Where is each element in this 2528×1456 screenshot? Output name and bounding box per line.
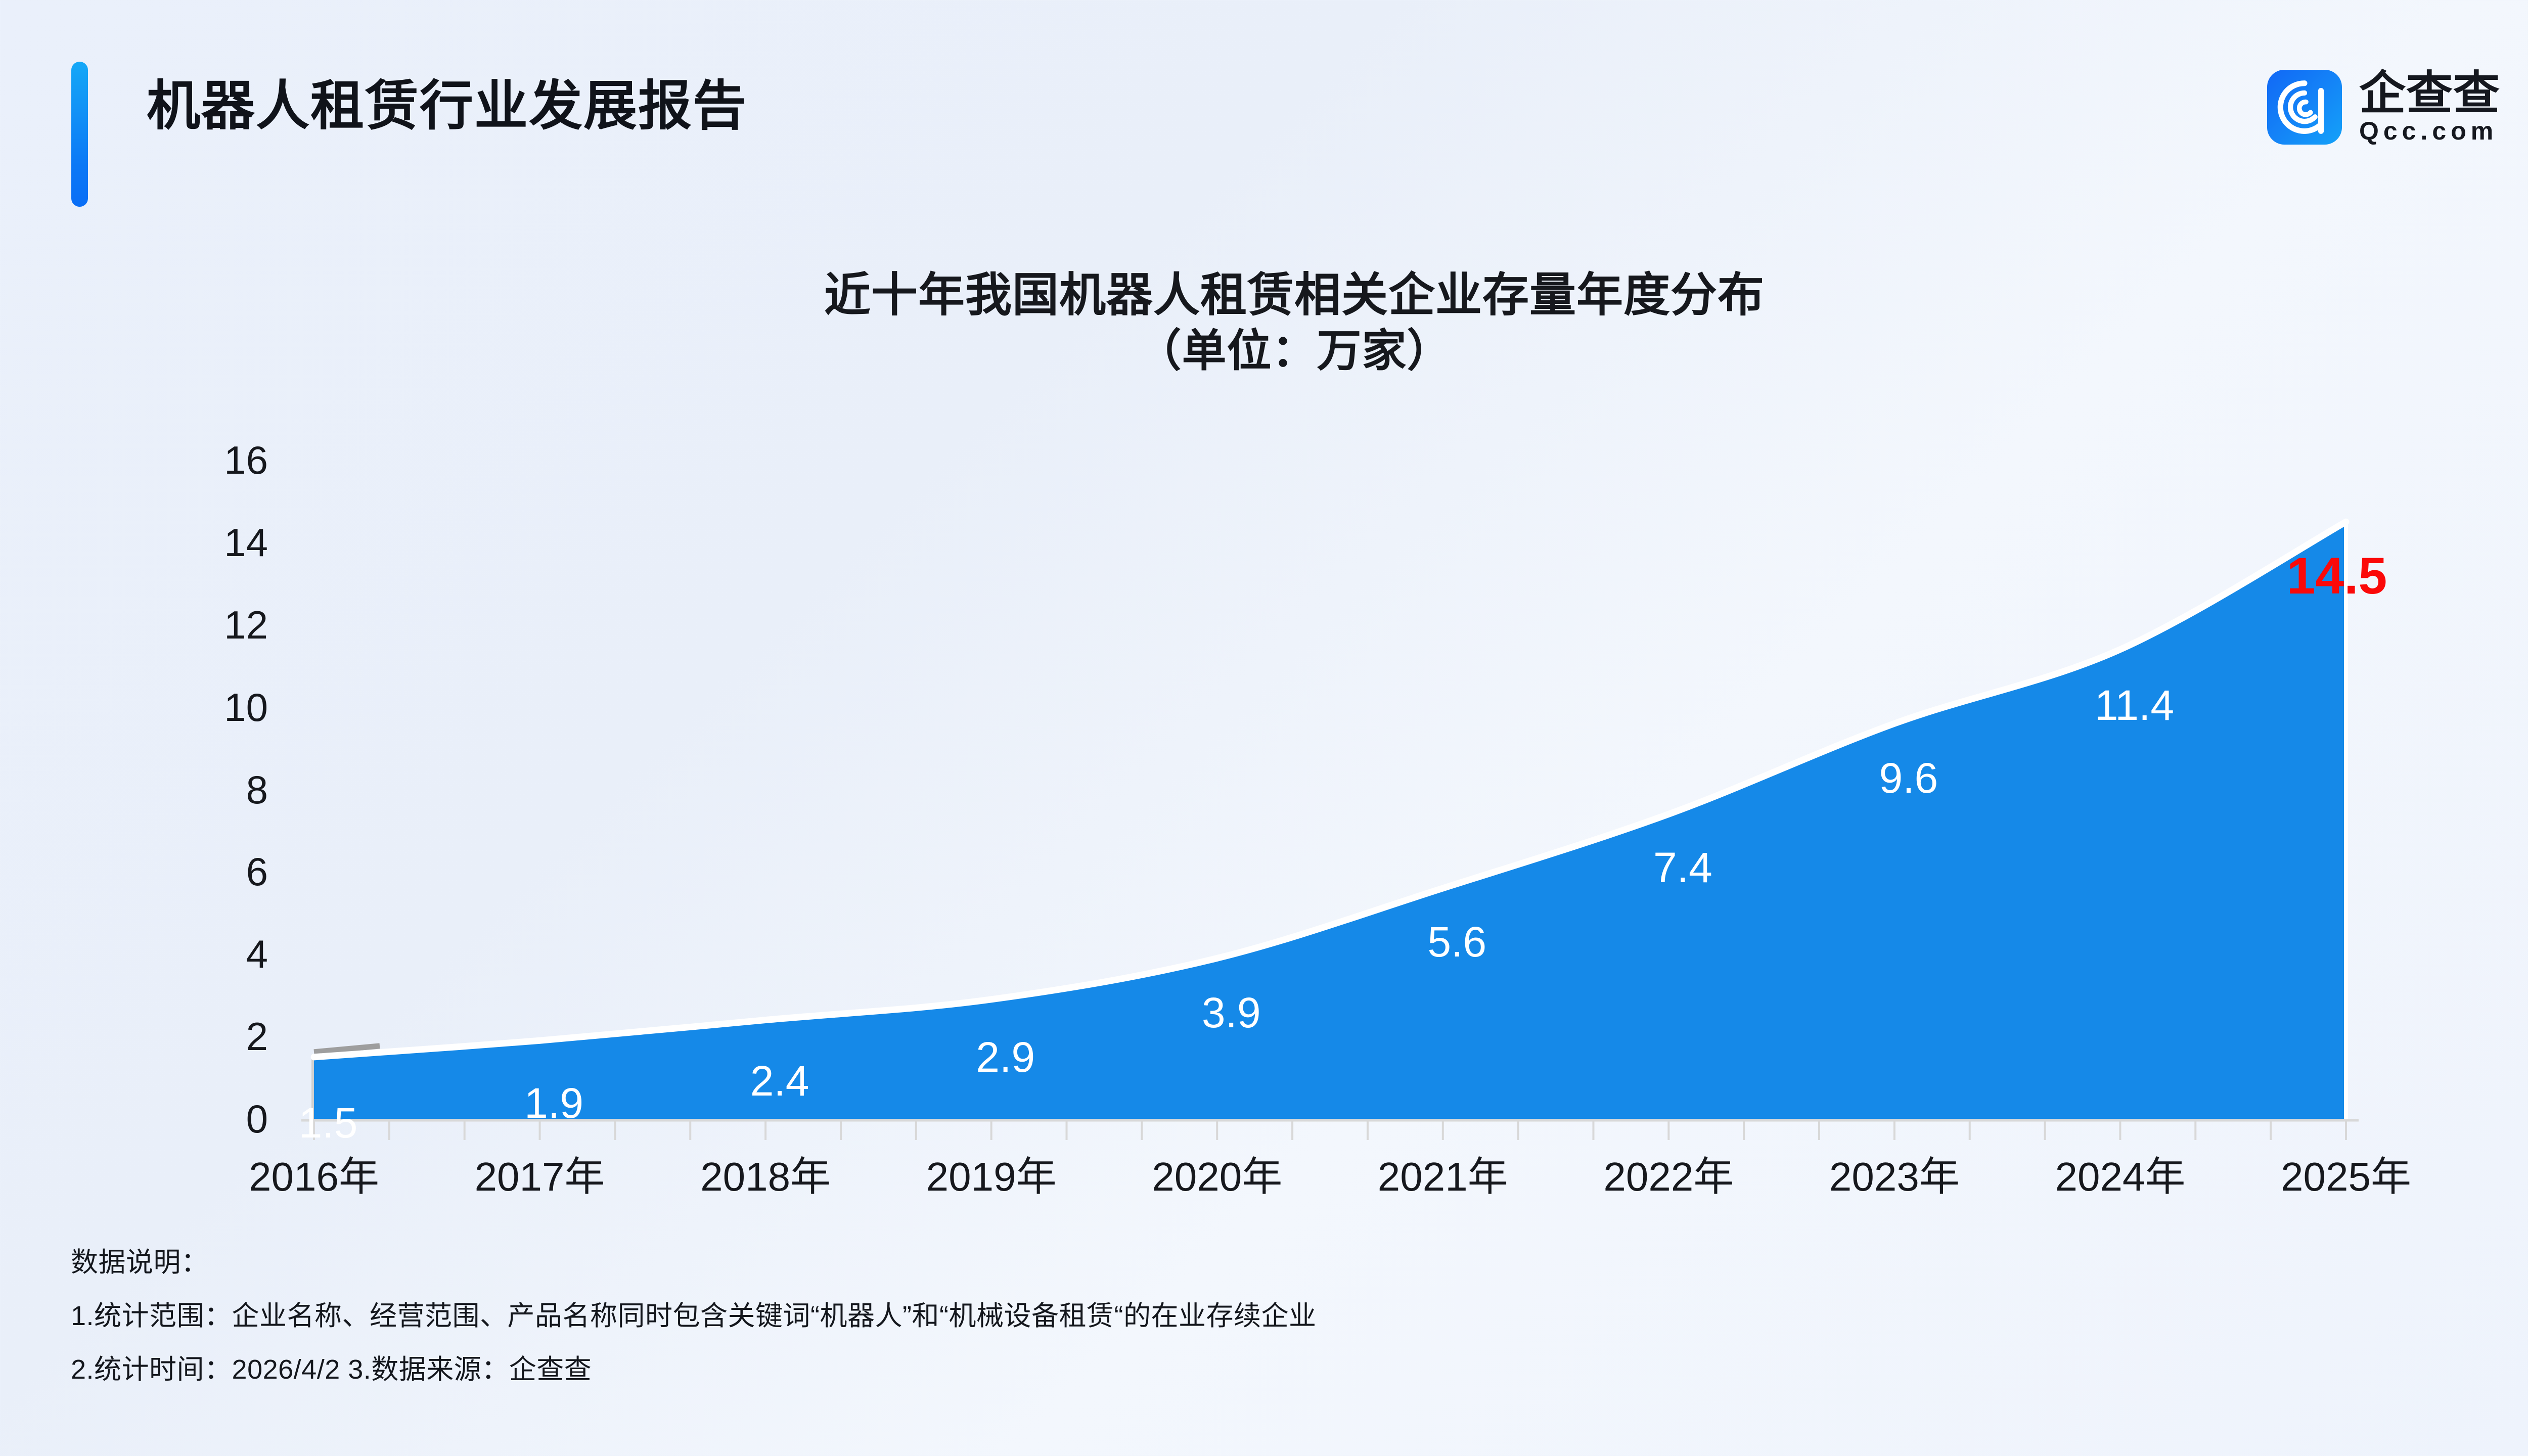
qcc-spiral-q-icon — [2267, 70, 2342, 145]
y-axis-tick-label: 16 — [167, 440, 268, 480]
title-accent-bar — [71, 62, 88, 207]
x-axis-tick-label: 2019年 — [865, 1157, 1118, 1197]
chart-title: 近十年我国机器人租赁相关企业存量年度分布 — [0, 267, 2528, 324]
x-axis-tick-label: 2020年 — [1091, 1157, 1343, 1197]
page-header: 机器人租赁行业发展报告 企查查 Qcc.com — [0, 0, 2528, 238]
x-axis-tick-label: 2018年 — [639, 1157, 892, 1197]
x-axis-tick-label: 2022年 — [1542, 1157, 1795, 1197]
logo-brand-cn: 企查查 — [2359, 70, 2500, 118]
data-label-highlight: 14.5 — [2236, 550, 2438, 602]
x-axis-tick-label: 2025年 — [2220, 1157, 2472, 1197]
chart-subtitle: （单位：万家） — [0, 324, 2528, 378]
x-axis-tick-label: 2016年 — [188, 1157, 440, 1197]
data-label: 9.6 — [1808, 757, 2010, 799]
qcc-logo[interactable]: 企查查 Qcc.com — [2267, 70, 2500, 145]
y-axis-tick-label: 4 — [167, 934, 268, 974]
data-label: 5.6 — [1356, 921, 1558, 963]
area-series-line — [314, 522, 2346, 1057]
chart-title-block: 近十年我国机器人租赁相关企业存量年度分布 （单位：万家） — [0, 267, 2528, 378]
data-label: 7.4 — [1582, 846, 1784, 889]
data-label: 2.4 — [679, 1060, 881, 1102]
notes-line-1: 1.统计范围：企业名称、经营范围、产品名称同时包含关键词“机器人”和“机械设备租… — [71, 1302, 2447, 1330]
x-axis-tick-label: 2024年 — [1994, 1157, 2246, 1197]
page-title: 机器人租赁行业发展报告 — [147, 76, 747, 138]
x-axis-tick-label: 2017年 — [414, 1157, 666, 1197]
data-label: 1.5 — [227, 1102, 429, 1144]
notes-line-2: 2.统计时间：2026/4/2 3.数据来源：企查查 — [71, 1356, 2447, 1383]
data-notes: 数据说明： 1.统计范围：企业名称、经营范围、产品名称同时包含关键词“机器人”和… — [71, 1249, 2447, 1383]
x-axis-tick-label: 2023年 — [1768, 1157, 2021, 1197]
y-axis-tick-label: 6 — [167, 852, 268, 891]
x-axis-tick-label: 2021年 — [1317, 1157, 1569, 1197]
data-label: 3.9 — [1130, 991, 1332, 1034]
y-axis-tick-label: 8 — [167, 770, 268, 809]
data-label: 11.4 — [2033, 684, 2235, 726]
notes-heading: 数据说明： — [71, 1249, 2447, 1276]
data-label: 2.9 — [905, 1036, 1107, 1078]
y-axis-tick-label: 10 — [167, 688, 268, 727]
logo-wordmark: 企查查 Qcc.com — [2359, 70, 2500, 145]
data-label: 1.9 — [453, 1082, 655, 1124]
y-axis-tick-label: 2 — [167, 1017, 268, 1056]
y-axis-tick-label: 12 — [167, 605, 268, 645]
y-axis-tick-label: 14 — [167, 523, 268, 562]
logo-brand-en: Qcc.com — [2359, 118, 2500, 144]
